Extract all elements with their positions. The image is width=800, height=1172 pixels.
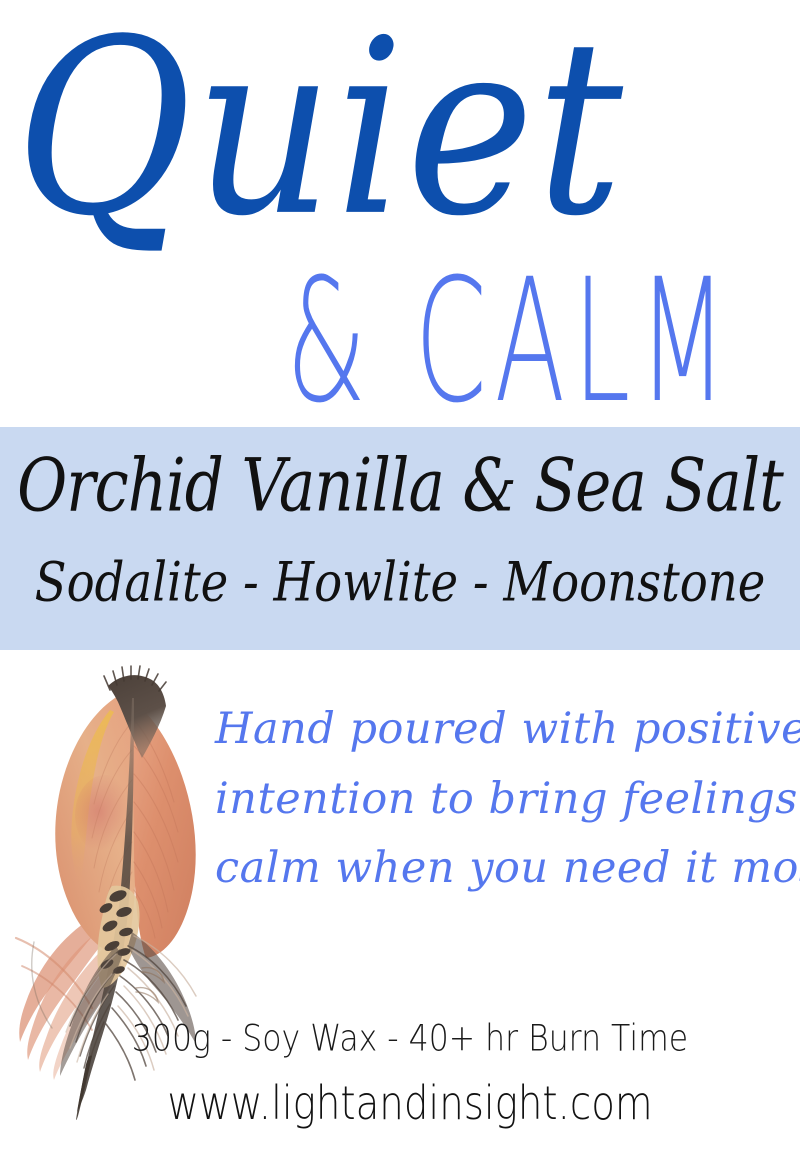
tagline-text: Hand poured with positive intention to b… [215,695,785,904]
product-specs: 300g - Soy Wax - 40+ hr Burn Time [131,1021,689,1058]
candle-label-graphic: Quiet & CALM Orchid Vanilla & Sea Salt S… [0,0,800,1172]
brand-name-block: & CALM [286,258,647,428]
brand-name-script: Quiet [0,8,640,250]
brand-header: Quiet & CALM [0,0,800,427]
lower-section: Hand poured with positive intention to b… [0,650,800,1172]
tagline-line-1: Hand poured with positive [215,695,785,765]
tagline-line-2: intention to bring feelings of [215,765,785,835]
tagline-line-3: calm when you need it most. [215,834,785,904]
scent-band: Orchid Vanilla & Sea Salt Sodalite - How… [0,427,800,650]
crystal-list: Sodalite - Howlite - Moonstone [12,555,788,610]
scent-name: Orchid Vanilla & Sea Salt [12,449,788,522]
website-url: www.lightandinsight.com [120,1081,701,1128]
